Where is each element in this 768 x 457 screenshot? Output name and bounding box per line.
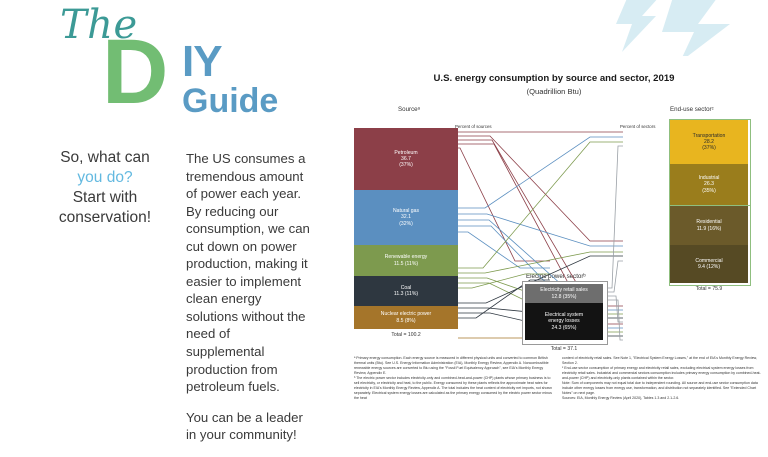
source-node-natural-gas-label: Natural gas 32.1 (32%) [393, 208, 419, 227]
source-node-nuclear-label: Nuclear electric power 8.5 (8%) [381, 311, 431, 323]
electric-power-system-losses-label: Electrical system energy losses 24.3 (65… [545, 312, 583, 331]
electric-power-node-retail-sales: Electricity retail sales 12.8 (35%) [525, 284, 603, 303]
tagline: So, what can you do? Start with conserva… [30, 148, 180, 229]
source-node-coal: Coal 11.3 (11%) [354, 276, 458, 306]
source-node-nuclear-electric-power: Nuclear electric power 8.5 (8%) [354, 306, 458, 329]
chart-footnotes: ᵃ Primary energy consumption. Each energ… [354, 356, 762, 401]
lightning-bolts-decoration [612, 0, 768, 56]
sector-node-residential: Residential 11.9 (16%) [670, 206, 748, 245]
sector-node-residential-label: Residential 11.9 (16%) [696, 219, 721, 231]
sector-node-transportation-label: Transportation 28.2 (37%) [693, 133, 726, 152]
sector-node-industrial: Industrial 26.3 (35%) [670, 164, 748, 205]
logo-d: D [102, 37, 168, 109]
tagline-line-3: Start with [30, 188, 180, 208]
slide-canvas: The D IY Guide So, what can you do? Star… [0, 0, 768, 432]
sectors-total: Total = 75.9 [669, 286, 749, 292]
sector-node-commercial-label: Commercial 9.4 (12%) [695, 258, 722, 270]
electric-power-node-system-losses: Electrical system energy losses 24.3 (65… [525, 303, 603, 340]
source-node-coal-label: Coal 11.3 (11%) [394, 285, 418, 297]
lightning-bolt-icon [612, 0, 768, 56]
source-node-natural-gas: Natural gas 32.1 (32%) [354, 190, 458, 245]
logo-iy: IY [182, 40, 222, 84]
logo-guide: Guide [182, 84, 278, 118]
body-copy: The US consumes a tremendous amount of p… [186, 150, 312, 457]
sources-total: Total = 100.2 [354, 332, 458, 338]
source-node-renewable-energy-label: Renewable energy 11.5 (11%) [385, 254, 427, 266]
body-paragraph-2: You can be a leader in your community! [186, 409, 312, 444]
sector-node-transportation: Transportation 28.2 (37%) [670, 120, 748, 164]
tagline-line-4: conservation! [30, 208, 180, 228]
energy-sankey-chart: U.S. energy consumption by source and se… [340, 56, 768, 432]
body-paragraph-1: The US consumes a tremendous amount of p… [186, 150, 312, 396]
tagline-line-2: you do? [30, 168, 180, 188]
electric-power-total: Total = 37.1 [522, 346, 606, 352]
chart-footnotes-left: ᵃ Primary energy consumption. Each energ… [354, 356, 553, 401]
chart-footnotes-right: content of electricity retail sales. See… [562, 356, 761, 401]
electric-power-retail-sales-label: Electricity retail sales 12.8 (35%) [540, 287, 588, 299]
sector-node-industrial-label: Industrial 26.3 (35%) [699, 175, 720, 194]
source-node-renewable-energy: Renewable energy 11.5 (11%) [354, 245, 458, 276]
sector-node-commercial: Commercial 9.4 (12%) [670, 245, 748, 283]
source-node-petroleum: Petroleum 36.7 (37%) [354, 128, 458, 190]
source-node-petroleum-label: Petroleum 36.7 (37%) [394, 150, 417, 169]
tagline-line-1: So, what can [30, 148, 180, 168]
logo: The D IY Guide [48, 4, 298, 126]
